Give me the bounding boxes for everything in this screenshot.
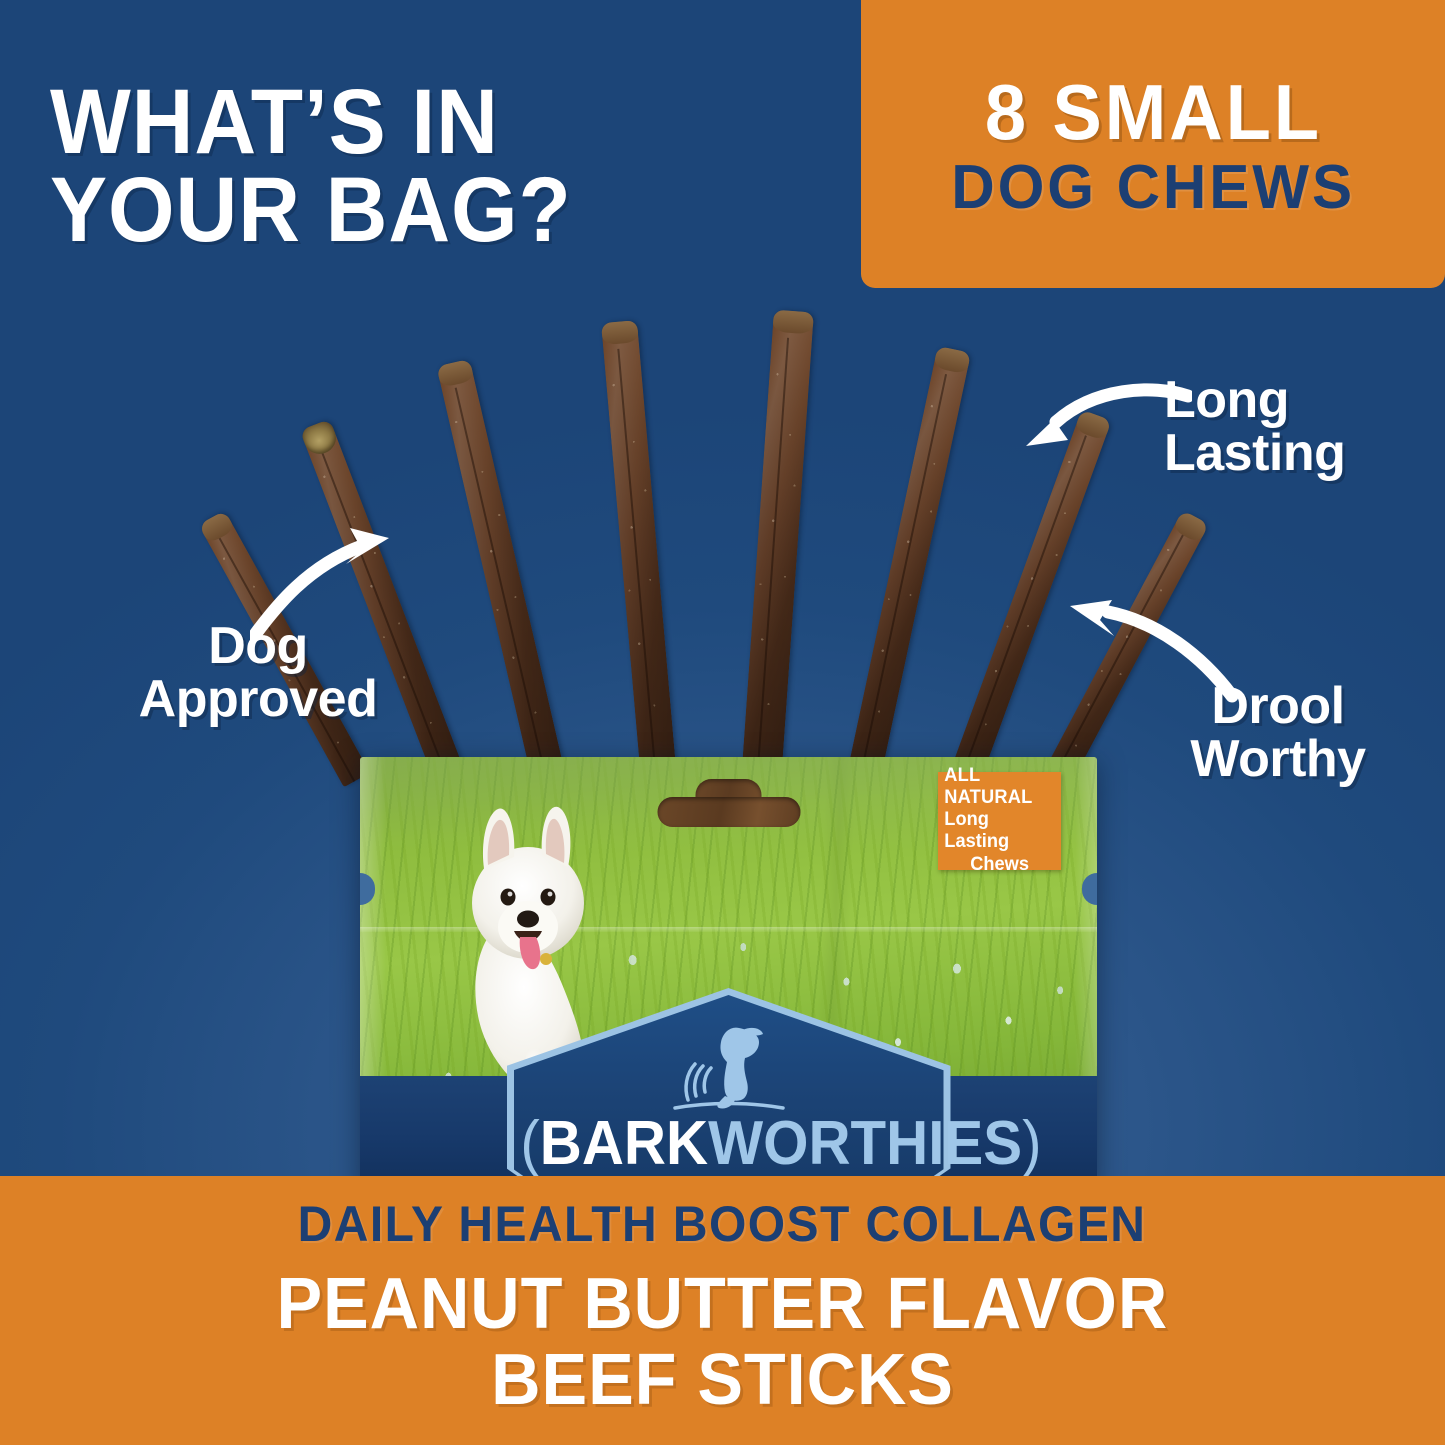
product-bag: ALL NATURAL Long Lasting Chews (BARKWOR: [360, 757, 1097, 1189]
hang-hole: [657, 779, 800, 827]
footer-product-line2: BEEF STICKS: [491, 1342, 954, 1418]
jumping-dog-silhouette-icon: [669, 1022, 789, 1114]
brand-wordmark: (BARKWORTHIES): [520, 1108, 937, 1179]
all-natural-line1: ALL NATURAL: [944, 765, 1054, 809]
callout-dog-approved-line1: Dog: [108, 620, 408, 673]
count-badge-product: DOG CHEWS: [951, 155, 1355, 220]
hang-hole-slot: [657, 797, 800, 827]
callout-drool-worthy-line2: Worthy: [1158, 733, 1398, 786]
product-name-banner: DAILY HEALTH BOOST COLLAGEN PEANUT BUTTE…: [0, 1176, 1445, 1445]
brand-worthies: WORTHIES: [708, 1109, 1022, 1178]
headline-line-1: WHAT’S IN: [50, 78, 813, 166]
all-natural-line2: Long Lasting: [944, 809, 1054, 855]
footer-product-line1: PEANUT BUTTER FLAVOR: [277, 1266, 1169, 1342]
page-title: WHAT’S IN YOUR BAG?: [50, 78, 870, 255]
callout-dog-approved-line2: Approved: [108, 673, 408, 726]
chew-stick-texture: [742, 310, 814, 770]
barkworthies-logo: (BARKWORTHIES): [507, 988, 951, 1189]
all-natural-line3: Chews: [970, 854, 1029, 877]
logo-paren-left: (: [520, 1109, 539, 1178]
chew-stick-texture: [601, 320, 676, 769]
callout-long-lasting-line1: Long: [1164, 374, 1414, 427]
callout-long-lasting: Long Lasting: [1164, 374, 1414, 480]
chew-stick-crease: [455, 388, 545, 771]
callout-long-lasting-line2: Lasting: [1164, 427, 1414, 480]
chew-stick-crease: [861, 374, 947, 770]
chew-stick: [742, 310, 814, 770]
headline-line-2: YOUR BAG?: [50, 166, 813, 254]
callout-drool-worthy: Drool Worthy: [1158, 680, 1398, 786]
callout-dog-approved: Dog Approved: [108, 620, 408, 726]
chew-stick: [601, 320, 676, 769]
brand-bark: BARK: [539, 1109, 707, 1178]
footer-tagline: DAILY HEALTH BOOST COLLAGEN: [298, 1197, 1147, 1252]
chew-stick: [848, 346, 971, 774]
chew-stick-texture: [848, 346, 971, 774]
count-badge-quantity: 8 SMALL: [985, 74, 1322, 150]
callout-drool-worthy-line1: Drool: [1158, 680, 1398, 733]
all-natural-badge: ALL NATURAL Long Lasting Chews: [938, 772, 1061, 870]
logo-paren-right: ): [1022, 1109, 1041, 1178]
count-badge: 8 SMALL DOG CHEWS: [861, 0, 1445, 288]
product-infographic: WHAT’S IN YOUR BAG? 8 SMALL DOG CHEWS Do…: [0, 0, 1445, 1445]
chew-stick-texture: [436, 359, 563, 774]
chew-stick: [436, 359, 563, 774]
